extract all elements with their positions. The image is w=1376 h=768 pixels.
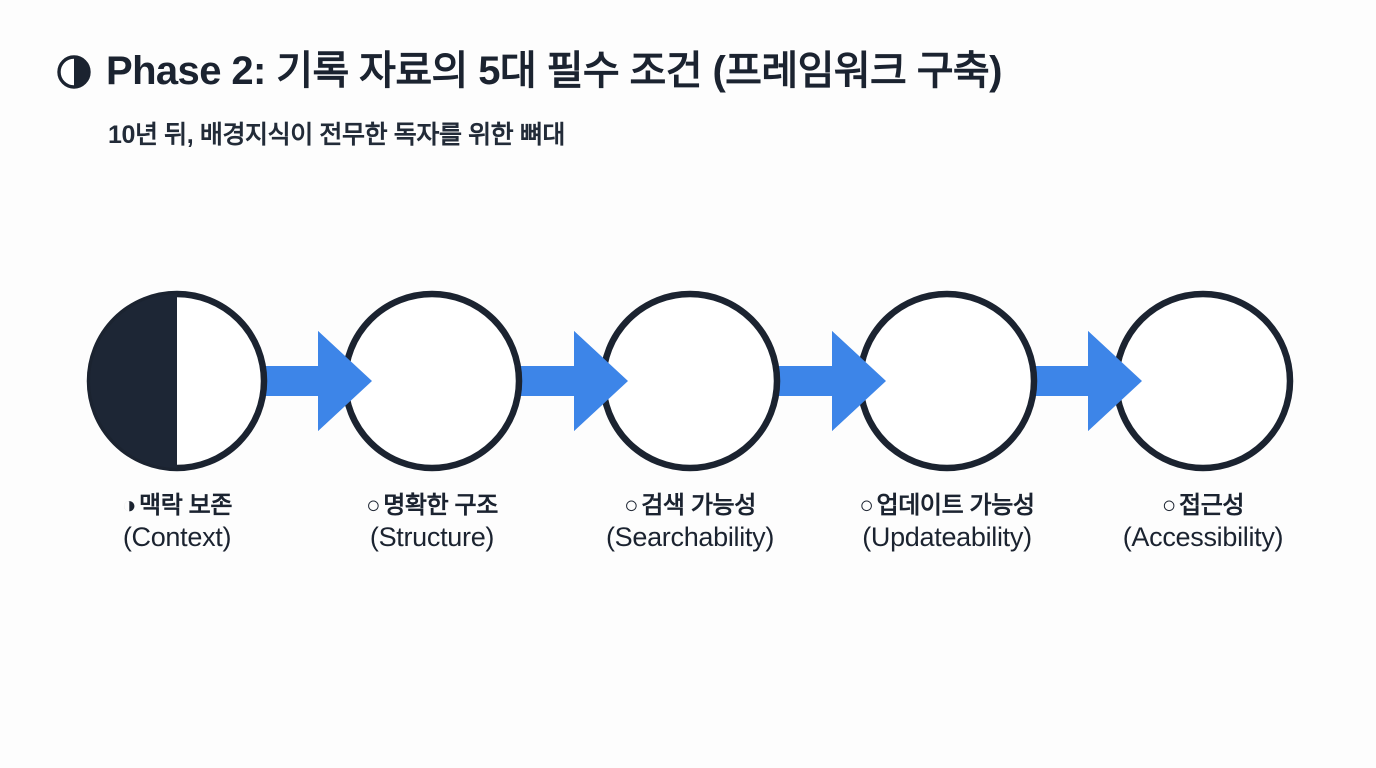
flow-label-accessibility-en: (Accessibility)	[1070, 522, 1336, 553]
half-filled-circle-icon	[57, 55, 91, 89]
page-subtitle: 10년 뒤, 배경지식이 전무한 독자를 위한 뼈대	[108, 122, 565, 150]
flow-label-updateability-ko: 업데이트 가능성	[877, 492, 1035, 519]
flow-label-structure-en: (Structure)	[299, 522, 565, 553]
flow-label-searchability-ko: 검색 가능성	[641, 492, 756, 519]
flow-node-context[interactable]	[90, 294, 264, 468]
flow-label-searchability: ○검색 가능성 (Searchability)	[557, 492, 823, 553]
flow-label-updateability-en: (Updateability)	[814, 522, 1080, 553]
flow-label-structure: ○명확한 구조 (Structure)	[299, 492, 565, 553]
flow-graphics	[0, 270, 1376, 490]
flow-label-context-en: (Context)	[44, 522, 310, 553]
flow-label-updateability: ○업데이트 가능성 (Updateability)	[814, 492, 1080, 553]
process-flow-diagram: ◑맥락 보존 (Context) ○명확한 구조 (Structure) ○검색…	[0, 270, 1376, 600]
page-title: Phase 2: 기록 자료의 5대 필수 조건 (프레임워크 구축)	[106, 50, 1002, 92]
flow-node-searchability[interactable]	[603, 294, 777, 468]
flow-label-context: ◑맥락 보존 (Context)	[44, 492, 310, 553]
empty-circle-icon: ○	[624, 492, 638, 520]
flow-node-labels: ◑맥락 보존 (Context) ○명확한 구조 (Structure) ○검색…	[0, 492, 1376, 592]
empty-circle-icon: ○	[1162, 492, 1176, 520]
empty-circle-icon: ○	[366, 492, 380, 520]
flow-node-updateability[interactable]	[860, 294, 1034, 468]
flow-label-accessibility-ko: 접근성	[1179, 492, 1244, 519]
flow-node-accessibility[interactable]	[1116, 294, 1290, 468]
flow-label-structure-ko: 명확한 구조	[383, 492, 498, 519]
half-filled-circle-icon: ◑	[122, 492, 136, 520]
empty-circle-icon: ○	[859, 492, 873, 520]
flow-label-searchability-en: (Searchability)	[557, 522, 823, 553]
flow-label-accessibility: ○접근성 (Accessibility)	[1070, 492, 1336, 553]
slide-canvas: Phase 2: 기록 자료의 5대 필수 조건 (프레임워크 구축) 10년 …	[0, 0, 1376, 768]
title-row: Phase 2: 기록 자료의 5대 필수 조건 (프레임워크 구축)	[57, 50, 1002, 92]
flow-label-context-ko: 맥락 보존	[139, 492, 232, 519]
